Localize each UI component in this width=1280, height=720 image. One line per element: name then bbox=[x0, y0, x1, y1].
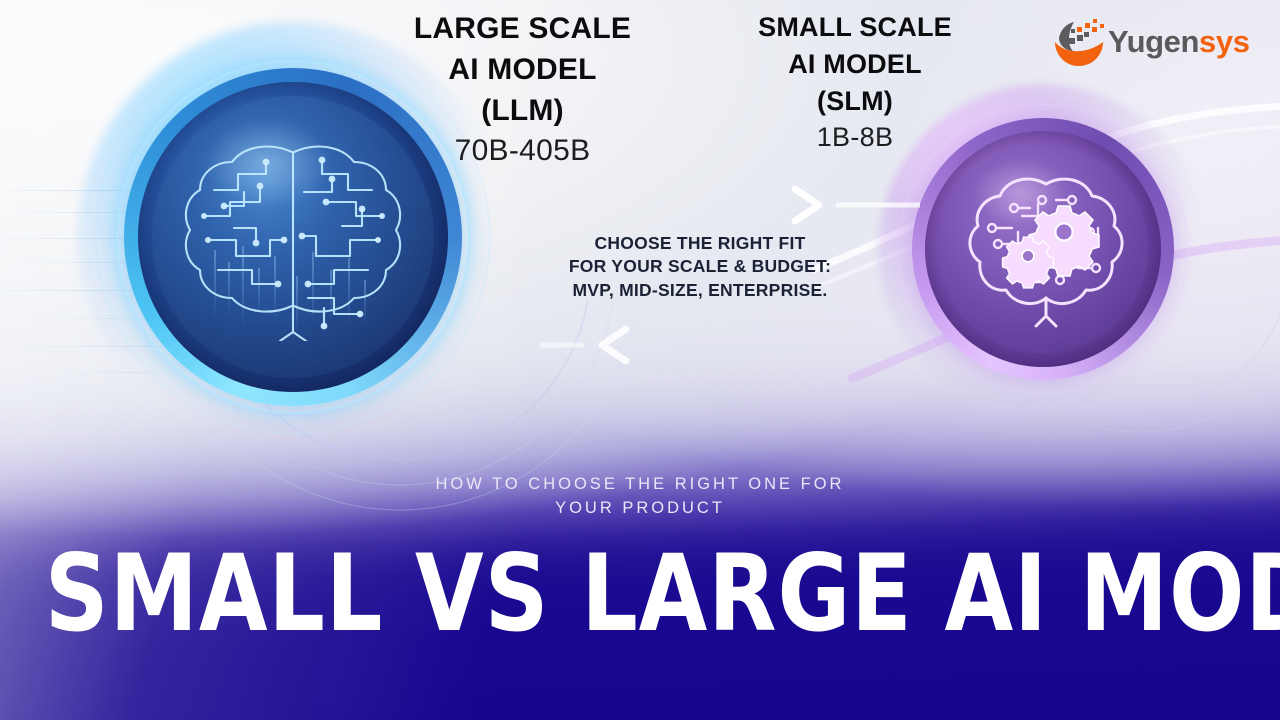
subtitle-kicker: HOW TO CHOOSE THE RIGHT ONE FOR YOUR PRO… bbox=[340, 473, 940, 521]
arrow-right-icon bbox=[300, 182, 920, 228]
advice-line2: FOR YOUR SCALE & BUDGET: bbox=[500, 255, 900, 278]
small-model-parameter-range: 1B-8B bbox=[710, 122, 1000, 153]
logo-text-yugen: Yugen bbox=[1108, 24, 1199, 59]
logo-text-sys: sys bbox=[1199, 24, 1250, 59]
advice-line1: CHOOSE THE RIGHT FIT bbox=[500, 232, 900, 255]
kicker-line2: YOUR PRODUCT bbox=[340, 497, 940, 521]
small-model-heading: SMALL SCALE AI MODEL (SLM) 1B-8B bbox=[710, 14, 1000, 153]
center-advice-note: CHOOSE THE RIGHT FIT FOR YOUR SCALE & BU… bbox=[500, 232, 900, 302]
purple-orb-core bbox=[938, 144, 1148, 354]
large-model-title-line1: LARGE SCALE bbox=[345, 14, 700, 44]
large-model-title-line2: AI MODEL bbox=[345, 55, 700, 85]
main-headline: SMALL VS LARGE AI MODELS bbox=[45, 541, 1235, 647]
brand-logo[interactable]: Yugensys bbox=[1050, 14, 1265, 76]
small-model-orb bbox=[912, 118, 1174, 380]
kicker-line1: HOW TO CHOOSE THE RIGHT ONE FOR bbox=[340, 473, 940, 497]
small-model-title-line2: AI MODEL bbox=[710, 51, 1000, 78]
small-model-title-line3: (SLM) bbox=[710, 88, 1000, 115]
brand-logo-text: Yugensys bbox=[1108, 26, 1250, 57]
infographic-canvas: LARGE SCALE AI MODEL (LLM) 70B-405B SMAL… bbox=[0, 0, 1280, 720]
pixel-swoosh-logo-icon bbox=[1050, 16, 1108, 72]
large-model-title-line3: (LLM) bbox=[345, 96, 700, 126]
large-model-heading: LARGE SCALE AI MODEL (LLM) 70B-405B bbox=[345, 14, 700, 168]
advice-line3: MVP, MID-SIZE, ENTERPRISE. bbox=[500, 279, 900, 302]
arrow-left-icon bbox=[320, 322, 940, 368]
brain-with-gears-icon bbox=[960, 170, 1132, 330]
small-model-title-line1: SMALL SCALE bbox=[710, 14, 1000, 41]
large-model-parameter-range: 70B-405B bbox=[345, 134, 700, 168]
